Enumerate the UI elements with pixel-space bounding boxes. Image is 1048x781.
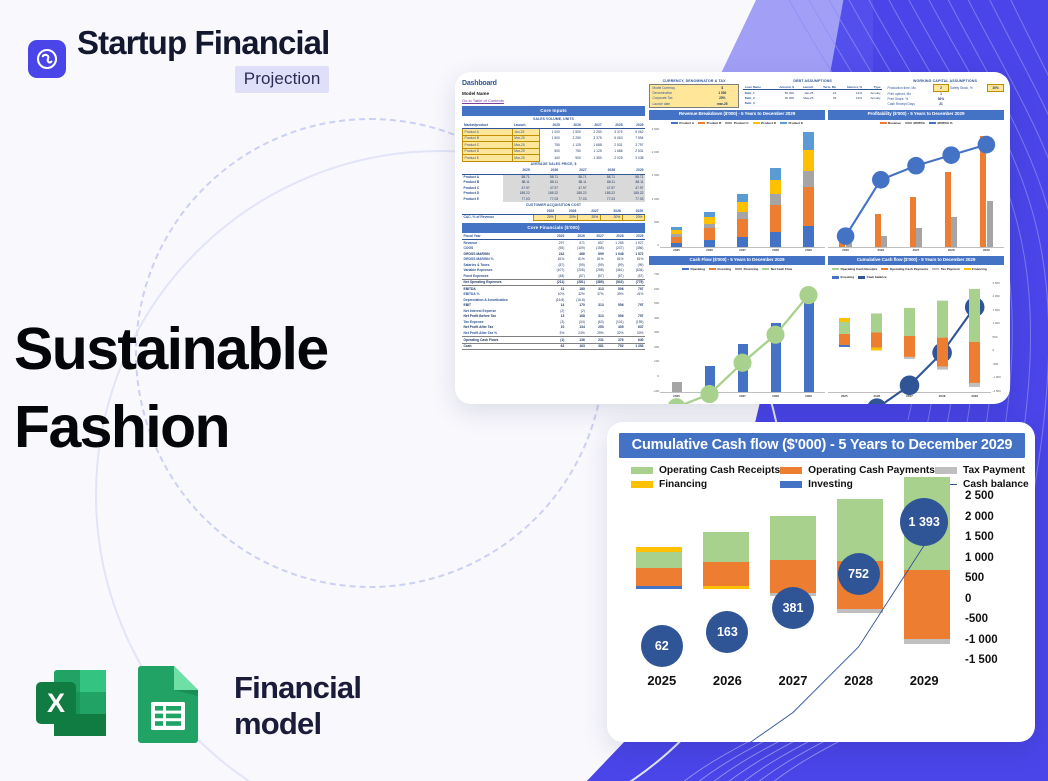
mini-chart-xaxis: 2025 2026 2027 2028 2029 — [828, 393, 1004, 398]
table-row: Debt_3 — [743, 101, 882, 106]
dashboard-inputs-pane: Dashboard Model Name Go to Table of Cont… — [462, 79, 645, 398]
mini-chart-yaxis: 2 500 2 000 1 500 1 000 500 0 — [649, 127, 660, 248]
table-row: Cash621633817521 393 — [462, 343, 645, 350]
mini-chart-bars — [828, 281, 991, 393]
y-tick: -500 — [965, 613, 1023, 625]
legend-item: Product E — [780, 121, 803, 126]
mini-chart-yaxis: 7006005004003002001000-100 — [649, 272, 660, 393]
table-row: Cash Receipt Days21 — [886, 102, 1003, 107]
legend-item: EBITDA — [905, 121, 925, 126]
chart-title: Cumulative Cash flow ($'000) - 5 Years t… — [619, 433, 1025, 458]
data-label-bubble: 1 393 — [900, 498, 948, 546]
file-format-row: X Financial model — [28, 660, 440, 751]
dashboard-sheet: Dashboard Model Name Go to Table of Cont… — [462, 79, 1004, 398]
legend-swatch — [935, 467, 957, 474]
y-tick: 1 500 — [965, 531, 1023, 543]
y-tick: 1 000 — [965, 552, 1023, 564]
core-inputs-band: Core Inputs — [462, 106, 645, 115]
legend-label: Cash balance — [963, 479, 1029, 490]
legend-item-financing: Financing — [631, 479, 780, 490]
legend-label: Tax Payment — [963, 465, 1025, 476]
legend-item-operating-cash-payments: Operating Cash Payments — [780, 465, 935, 476]
legend-item: Operating — [682, 267, 705, 272]
avg-price-table: 2025 2026 2027 2028 2029 Product A 58.71… — [462, 168, 645, 202]
y-tick: 2 000 — [965, 511, 1023, 523]
mini-chart-xaxis: 2025 2026 2027 2028 2029 — [649, 393, 825, 398]
legend-label: Operating Cash Receipts — [659, 465, 780, 476]
mini-chart-legend: Product A Product B Product C Product D … — [649, 120, 825, 127]
table-row: CAC, % of Revenue 20% 20% 20% 20% 20% — [462, 214, 645, 221]
working-capital-assumptions-block: WORKING CAPITAL ASSUMPTIONS Production t… — [886, 79, 1004, 107]
legend-item-operating-cash-receipts: Operating Cash Receipts — [631, 465, 780, 476]
table-of-contents-link[interactable]: Go to Table of Contents — [462, 98, 645, 104]
mini-chart-legend: Revenue EBITDA EBITDA % — [828, 120, 1004, 127]
core-financials-band: Core Financials ($'000) — [462, 223, 645, 232]
mini-chart-title: Profitability ($'000) - 5 Years to Decem… — [828, 110, 1004, 119]
legend-item: EBITDA % — [929, 121, 953, 126]
legend-item-tax-payment: Tax Payment — [935, 465, 1029, 476]
legend-swatch — [780, 481, 802, 488]
mini-chart-profitability[interactable]: Profitability ($'000) - 5 Years to Decem… — [828, 110, 1004, 252]
sales-volume-table: Market/product Launch 2025 2026 2027 202… — [462, 123, 645, 162]
currency-assumptions-block: CURRENCY, DENOMINATOR & TAX Model Curren… — [649, 79, 739, 108]
chart-plot: 62 163 381 752 1 393 2 500 2 000 1 500 1… — [619, 496, 1025, 692]
legend-swatch — [631, 467, 653, 474]
cumulative-cash-flow-card[interactable]: Cumulative Cash flow ($'000) - 5 Years t… — [607, 422, 1035, 742]
legend-item: Tax Payment — [932, 267, 959, 272]
legend-item: Investing — [709, 267, 731, 272]
dashboard-heading: Dashboard — [462, 79, 645, 90]
mini-chart-xaxis: 2025 2026 2027 2028 2029 — [828, 248, 1004, 253]
y-tick: 500 — [965, 572, 1023, 584]
mini-chart-revenue-breakdown[interactable]: Revenue Breakdown ($'000) - 5 Years to D… — [649, 110, 825, 252]
legend-item: Financing — [964, 267, 987, 272]
data-label-bubble: 62 — [641, 625, 683, 667]
y-tick: 0 — [965, 593, 1023, 605]
mini-chart-legend: Operating Cash Receipts Operating Cash P… — [828, 265, 1004, 281]
table-row: Launch datemar-25 — [651, 101, 737, 106]
chart-yaxis: 2 500 2 000 1 500 1 000 500 0 -500 -1 00… — [959, 490, 1023, 666]
legend-item: Revenue — [880, 121, 901, 126]
data-label-bubble: 752 — [838, 553, 880, 595]
legend-swatch — [631, 481, 653, 488]
legend-item: Cash balance — [858, 275, 886, 280]
legend-item: Product B — [698, 121, 721, 126]
mini-chart-bars — [828, 127, 1004, 248]
debt-assumptions-block: DEBT ASSUMPTIONS Loan Name Amount, $ Lau… — [743, 79, 882, 106]
assumptions-row: CURRENCY, DENOMINATOR & TAX Model Curren… — [649, 79, 1004, 108]
chart-legend: Operating Cash Receipts Operating Cash P… — [619, 458, 1025, 494]
left-content-column: Startup Financial Projection Sustainable… — [0, 0, 440, 781]
legend-item: Investing — [832, 275, 854, 280]
google-sheets-icon — [130, 660, 206, 751]
core-financials-table: Fiscal Year 2025 2026 2027 2028 2029 Rev… — [462, 234, 645, 351]
table-row: Product E Mar-25 400 900 1 350 2 025 3 0… — [463, 155, 646, 162]
e-swirl-logo-icon — [28, 40, 66, 78]
data-label-bubble: 381 — [772, 587, 814, 629]
brand-lockup: Startup Financial Projection — [28, 26, 329, 93]
mini-chart-cash-flow[interactable]: Cash Flow ($'000) - 5 Years to December … — [649, 256, 825, 398]
mini-chart-title: Cumulative Cash flow ($'000) - 5 Years t… — [828, 256, 1004, 265]
legend-item: Product A — [671, 121, 694, 126]
mini-chart-legend: Operating Investing Financing Net Cash F… — [649, 265, 825, 272]
x-tick: 2026 — [695, 673, 761, 688]
legend-label: Operating Cash Payments — [808, 465, 935, 476]
x-tick: 2025 — [629, 673, 695, 688]
dashboard-mini-charts: Revenue Breakdown ($'000) - 5 Years to D… — [649, 110, 1004, 398]
legend-label: Financing — [659, 479, 707, 490]
mini-chart-bars — [660, 272, 825, 393]
legend-item: Operating Cash Payments — [881, 267, 928, 272]
legend-item: Product C — [725, 121, 748, 126]
microsoft-excel-icon: X — [28, 660, 114, 751]
brand-title: Startup Financial — [77, 26, 329, 61]
y-tick: -1 500 — [965, 654, 1023, 666]
svg-text:X: X — [47, 688, 65, 718]
x-tick: 2027 — [760, 673, 826, 688]
data-label-bubble: 163 — [706, 611, 748, 653]
mini-chart-xaxis: 2025 2026 2027 2028 2029 — [649, 248, 825, 253]
y-tick: 2 500 — [965, 490, 1023, 502]
brand-subtitle: Projection — [235, 66, 330, 93]
mini-chart-cumulative-cash-flow[interactable]: Cumulative Cash flow ($'000) - 5 Years t… — [828, 256, 1004, 398]
y-tick: -1 000 — [965, 634, 1023, 646]
dashboard-preview-card[interactable]: Dashboard Model Name Go to Table of Cont… — [455, 72, 1010, 404]
x-tick: 2029 — [891, 673, 957, 688]
cac-table: 2025 2026 2027 2028 2029 CAC, % of Reven… — [462, 208, 645, 221]
legend-label: Investing — [808, 479, 853, 490]
legend-swatch — [780, 467, 802, 474]
x-tick: 2028 — [826, 673, 892, 688]
mini-chart-bars — [660, 127, 825, 248]
mini-chart-yaxis: 2 500 2 000 1 500 1 000 500 0 -500 -1 00… — [991, 281, 1004, 393]
model-name-label: Model Name — [462, 91, 645, 98]
chart-xaxis: 2025 2026 2027 2028 2029 — [629, 668, 957, 692]
mini-chart-title: Cash Flow ($'000) - 5 Years to December … — [649, 256, 825, 265]
legend-item: Operating Cash Receipts — [832, 267, 877, 272]
dashboard-charts-pane: CURRENCY, DENOMINATOR & TAX Model Curren… — [649, 79, 1004, 398]
mini-chart-title: Revenue Breakdown ($'000) - 5 Years to D… — [649, 110, 825, 119]
chart-bars-area: 62 163 381 752 1 393 — [629, 496, 957, 666]
legend-item: Net Cash Flow — [762, 267, 792, 272]
page-title: Sustainable Fashion — [14, 310, 440, 467]
financial-model-label: Financial model — [234, 670, 440, 742]
legend-item: Product D — [753, 121, 776, 126]
legend-item: Financing — [735, 267, 758, 272]
